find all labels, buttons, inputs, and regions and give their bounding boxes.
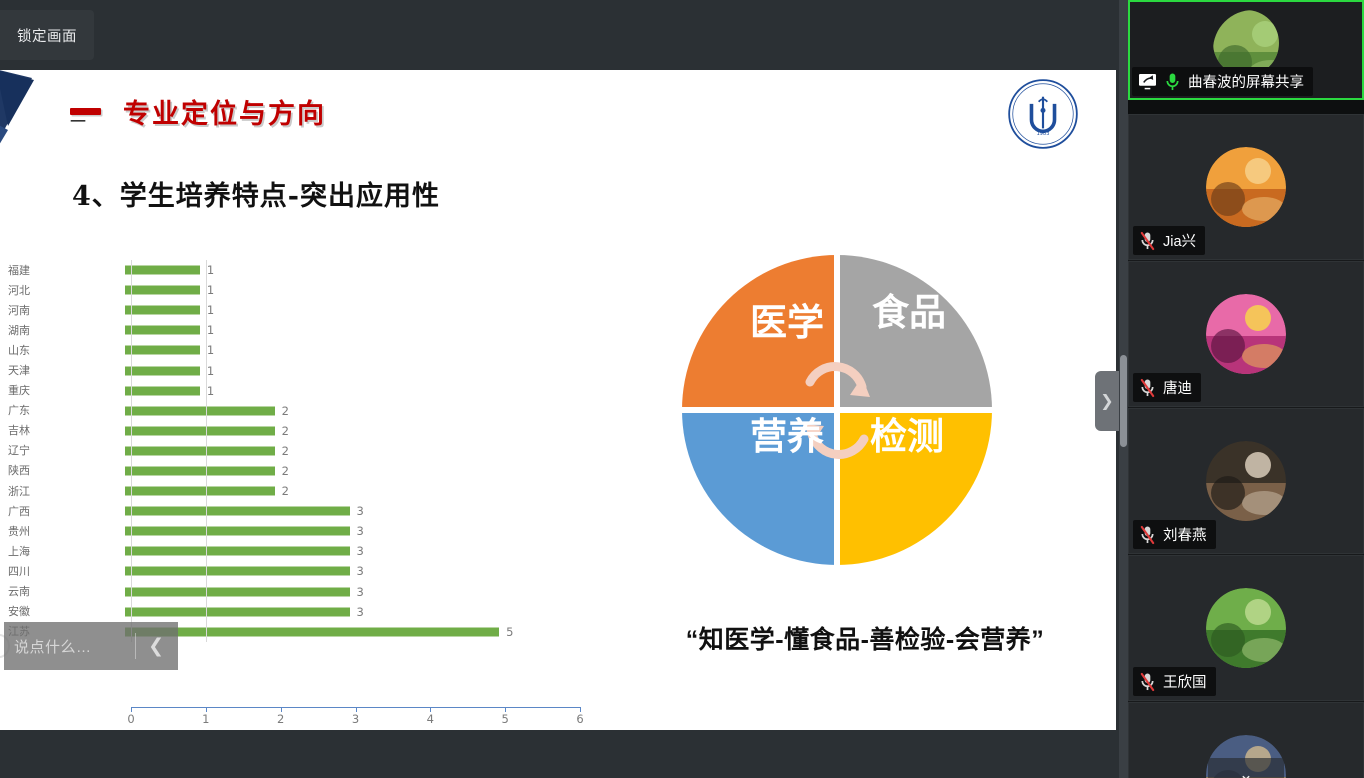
chart-category-label: 广西 <box>0 506 34 517</box>
svg-text:1983: 1983 <box>1037 131 1050 137</box>
quadrant-label-nutrition: 营养 <box>750 417 824 457</box>
chart-data-label: 1 <box>207 283 214 297</box>
chart-category-label: 浙江 <box>0 486 34 497</box>
lock-screen-button[interactable]: 锁定画面 <box>0 10 94 60</box>
chart-bar <box>125 386 200 395</box>
chart-data-label: 3 <box>357 504 364 518</box>
quadrant-label-testing: 检测 <box>870 417 944 457</box>
chart-bar-track: 3 <box>34 521 600 541</box>
participant-tile[interactable]: Jia兴 <box>1128 114 1364 260</box>
chart-bar <box>125 266 200 275</box>
chart-bar-track: 2 <box>34 481 600 501</box>
chart-category-label: 福建 <box>0 265 34 276</box>
chart-tick-label: 4 <box>427 712 434 726</box>
chart-data-label: 3 <box>357 564 364 578</box>
chart-bar <box>125 587 350 596</box>
chart-bar <box>125 446 275 455</box>
chart-tick-label: 2 <box>277 712 284 726</box>
chart-data-label: 1 <box>207 323 214 337</box>
filmstrip-divider <box>1128 100 1364 114</box>
panel-collapse-handle[interactable]: ❯ <box>1095 371 1119 431</box>
chevron-right-icon: ❯ <box>1100 391 1113 411</box>
participant-tile[interactable]: 刘春燕 <box>1128 408 1364 554</box>
chart-gridline <box>206 260 207 642</box>
mic-muted-icon <box>1139 231 1156 251</box>
quadrant-circle-svg <box>672 245 1002 575</box>
chart-tick-label: 1 <box>202 712 209 726</box>
participant-name-chip: 王欣国 <box>1133 667 1216 696</box>
chart-bar <box>125 547 350 556</box>
chart-data-label: 3 <box>357 524 364 538</box>
participant-name-chip: 唐迪 <box>1133 373 1201 402</box>
chart-bar <box>125 366 200 375</box>
avatar <box>1206 147 1286 227</box>
chart-tick-label: 0 <box>127 712 134 726</box>
chart-bar-row: 福建1 <box>0 260 600 280</box>
chart-category-label: 陕西 <box>0 465 34 476</box>
chart-bar-track: 1 <box>34 320 600 340</box>
chart-category-label: 广东 <box>0 405 34 416</box>
chat-divider <box>135 633 136 659</box>
chart-data-label: 2 <box>282 444 289 458</box>
page-title: 专业定位与方向 <box>123 92 326 131</box>
avatar <box>1206 294 1286 374</box>
chart-bar-track: 3 <box>34 582 600 602</box>
chart-data-label: 1 <box>207 384 214 398</box>
chart-bar-track: 1 <box>34 381 600 401</box>
chart-category-label: 天津 <box>0 365 34 376</box>
chart-bar-track: 1 <box>34 280 600 300</box>
chart-bar-row: 广东2 <box>0 401 600 421</box>
chart-tick-label: 6 <box>576 712 583 726</box>
chart-bar-track: 3 <box>34 501 600 521</box>
participant-tile[interactable]: 唐迪 <box>1128 261 1364 407</box>
chart-bar-track: 3 <box>34 602 600 622</box>
participant-tile-screenshare[interactable]: 曲春波的屏幕共享 <box>1128 0 1364 100</box>
chart-category-label: 湖南 <box>0 325 34 336</box>
chart-gridline <box>131 260 132 642</box>
chart-bar <box>125 507 350 516</box>
chart-bar-track: 3 <box>34 541 600 561</box>
chart-bar-row: 山东1 <box>0 340 600 360</box>
chart-bar-row: 湖南1 <box>0 320 600 340</box>
chart-data-label: 1 <box>207 303 214 317</box>
chart-bar-rows: 福建1河北1河南1湖南1山东1天津1重庆1广东2吉林2辽宁2陕西2浙江2广西3贵… <box>0 260 600 642</box>
chart-bar-row: 辽宁2 <box>0 441 600 461</box>
chart-category-label: 山东 <box>0 345 34 356</box>
chart-bar <box>125 286 200 295</box>
chat-input[interactable]: 说点什么… <box>14 636 127 657</box>
chart-data-label: 2 <box>282 404 289 418</box>
slide-subtitle: 4、学生培养特点-突出应用性 <box>72 174 440 213</box>
chart-bar-row: 河北1 <box>0 280 600 300</box>
chart-bar <box>125 306 200 315</box>
mic-muted-icon <box>1139 525 1156 545</box>
meeting-window: 锁定画面 一 专业定位与方向 4、学生培养特点-突出应用性 1983 福建1河北… <box>0 0 1364 778</box>
chart-bar <box>125 487 275 496</box>
participant-name: 唐迪 <box>1163 377 1192 398</box>
chart-category-label: 河南 <box>0 305 34 316</box>
chart-category-label: 云南 <box>0 586 34 597</box>
avatar-image <box>1206 294 1286 374</box>
chevron-left-icon[interactable]: ❮ <box>144 637 168 656</box>
participant-name-chip: Jia兴 <box>1133 226 1205 255</box>
chart-category-label: 上海 <box>0 546 34 557</box>
school-seal-logo: 1983 <box>1007 78 1079 150</box>
chart-tick-label: 3 <box>352 712 359 726</box>
chart-bar <box>125 627 499 636</box>
chart-bar-row: 河南1 <box>0 300 600 320</box>
chart-bar-track: 2 <box>34 441 600 461</box>
chevron-down-icon[interactable]: ⌄ <box>1208 758 1284 778</box>
filmstrip-scrollbar-thumb[interactable] <box>1120 355 1127 447</box>
chart-bar-row: 广西3 <box>0 501 600 521</box>
participant-name-chip: 刘春燕 <box>1133 520 1216 549</box>
mic-on-icon <box>1164 72 1181 92</box>
avatar-image <box>1206 588 1286 668</box>
avatar <box>1206 588 1286 668</box>
chart-bar-row: 安徽3 <box>0 602 600 622</box>
chart-bar <box>125 527 350 536</box>
competency-quadrant-diagram: 医学 食品 营养 检测 <box>672 245 1002 575</box>
chart-bar <box>125 346 200 355</box>
chart-bar-row: 陕西2 <box>0 461 600 481</box>
chart-bar <box>125 466 275 475</box>
participant-name: 王欣国 <box>1163 671 1207 692</box>
chart-bar-row: 天津1 <box>0 360 600 380</box>
chart-bar-row: 浙江2 <box>0 481 600 501</box>
chart-bar-track: 1 <box>34 300 600 320</box>
chart-category-label: 重庆 <box>0 385 34 396</box>
chart-bar-row: 贵州3 <box>0 521 600 541</box>
chart-bar-track: 1 <box>34 260 600 280</box>
chart-category-label: 安徽 <box>0 606 34 617</box>
chart-bar-row: 上海3 <box>0 541 600 561</box>
chart-data-label: 2 <box>282 484 289 498</box>
chart-bar-track: 1 <box>34 360 600 380</box>
chart-category-label: 河北 <box>0 285 34 296</box>
chart-bar <box>125 326 200 335</box>
chart-bar-row: 四川3 <box>0 561 600 581</box>
chart-category-label: 辽宁 <box>0 445 34 456</box>
chart-data-label: 1 <box>207 343 214 357</box>
chart-bar-track: 3 <box>34 561 600 581</box>
participant-name: 曲春波的屏幕共享 <box>1188 71 1304 92</box>
chart-category-label: 吉林 <box>0 425 34 436</box>
participant-tile[interactable]: ⌄ <box>1128 702 1364 778</box>
slide-tagline: “知医学-懂食品-善检验-会营养” <box>650 620 1080 656</box>
chart-bar-row: 重庆1 <box>0 381 600 401</box>
chart-bar-track: 1 <box>34 340 600 360</box>
participant-name: Jia兴 <box>1163 230 1196 251</box>
slide-heading: 一 专业定位与方向 <box>70 92 326 131</box>
chart-bar-track: 2 <box>34 401 600 421</box>
chart-data-label: 1 <box>207 364 214 378</box>
quadrant-label-medicine: 医学 <box>750 303 824 343</box>
avatar-image <box>1206 441 1286 521</box>
lock-screen-label: 锁定画面 <box>17 25 77 46</box>
bottom-strip <box>0 730 1128 778</box>
chart-data-label: 3 <box>357 544 364 558</box>
chart-data-label: 5 <box>506 625 513 639</box>
quadrant-label-food: 食品 <box>872 293 946 333</box>
chart-data-label: 3 <box>357 605 364 619</box>
chart-bar-row: 云南3 <box>0 582 600 602</box>
mic-muted-icon <box>1139 378 1156 398</box>
chart-data-label: 1 <box>207 263 214 277</box>
meeting-topbar: 锁定画面 <box>0 0 1128 70</box>
chart-bar <box>125 406 275 415</box>
chart-data-label: 3 <box>357 585 364 599</box>
screen-share-icon <box>1138 73 1157 90</box>
chart-data-label: 2 <box>282 464 289 478</box>
participant-name: 刘春燕 <box>1163 524 1207 545</box>
chart-category-label: 贵州 <box>0 526 34 537</box>
section-number-dash: 一 <box>70 108 101 115</box>
mic-muted-icon <box>1139 672 1156 692</box>
avatar <box>1206 441 1286 521</box>
participant-filmstrip[interactable]: 曲春波的屏幕共享Jia兴唐迪刘春燕王欣国⌄ <box>1128 0 1364 778</box>
participant-name-chip: 曲春波的屏幕共享 <box>1132 67 1313 96</box>
avatar-image <box>1206 147 1286 227</box>
chart-bar-track: 2 <box>34 421 600 441</box>
chart-bar <box>125 426 275 435</box>
chart-data-label: 2 <box>282 424 289 438</box>
chart-bar <box>125 567 350 576</box>
chat-input-bar[interactable]: 说点什么… ❮ <box>4 622 178 670</box>
participant-tile[interactable]: 王欣国 <box>1128 555 1364 701</box>
chart-bar <box>125 607 350 616</box>
chart-bar-row: 吉林2 <box>0 421 600 441</box>
chart-tick-label: 5 <box>501 712 508 726</box>
chart-bar-track: 2 <box>34 461 600 481</box>
chart-category-label: 四川 <box>0 566 34 577</box>
